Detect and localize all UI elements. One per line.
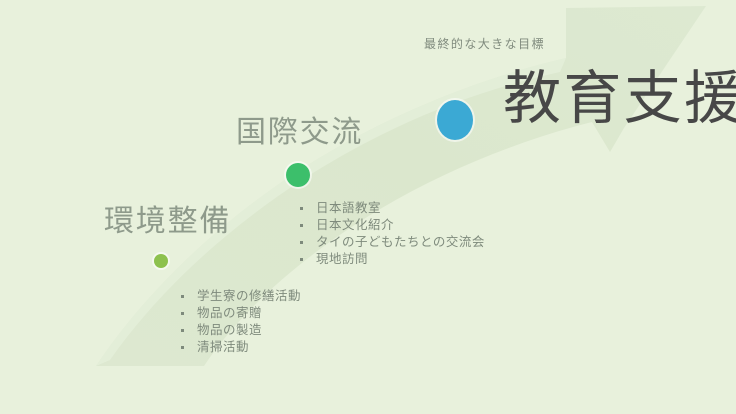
list-item-label: 物品の製造	[197, 323, 262, 337]
goal-title: 教育支援	[503, 70, 736, 128]
goal-caption: 最終的な大きな目標	[424, 38, 545, 50]
bullet-dot-icon	[181, 295, 184, 298]
list-item: 清掃活動	[177, 339, 301, 356]
list-item: 物品の寄贈	[177, 305, 301, 322]
list-item-label: 学生寮の修繕活動	[197, 289, 301, 303]
stage-label-international-exchange: 国際交流	[236, 118, 363, 148]
list-item: タイの子どもたちとの交流会	[296, 234, 485, 251]
stage-marker-dot-international-exchange	[286, 163, 310, 187]
list-item-label: 日本文化紹介	[316, 218, 394, 232]
stage-marker-dot-environment-improvement	[154, 254, 168, 268]
list-item-label: 日本語教室	[316, 201, 381, 215]
goal-marker-dot	[437, 100, 473, 140]
bullet-dot-icon	[300, 207, 303, 210]
slide-canvas: 最終的な大きな目標 教育支援 国際交流 日本語教室 日本文化紹介 タイの子どもた…	[0, 0, 736, 414]
list-item: 現地訪問	[296, 251, 485, 268]
list-item: 学生寮の修繕活動	[177, 288, 301, 305]
bullet-dot-icon	[181, 346, 184, 349]
list-item: 日本語教室	[296, 200, 485, 217]
stage-bullets-international-exchange: 日本語教室 日本文化紹介 タイの子どもたちとの交流会 現地訪問	[296, 200, 485, 268]
bullet-dot-icon	[181, 329, 184, 332]
list-item-label: 清掃活動	[197, 340, 249, 354]
list-item-label: 現地訪問	[316, 252, 368, 266]
stage-bullets-environment-improvement: 学生寮の修繕活動 物品の寄贈 物品の製造 清掃活動	[177, 288, 301, 356]
list-item: 日本文化紹介	[296, 217, 485, 234]
bullet-dot-icon	[181, 312, 184, 315]
list-item-label: タイの子どもたちとの交流会	[316, 235, 485, 249]
bullet-dot-icon	[300, 258, 303, 261]
bullet-dot-icon	[300, 224, 303, 227]
list-item: 物品の製造	[177, 322, 301, 339]
bullet-dot-icon	[300, 241, 303, 244]
list-item-label: 物品の寄贈	[197, 306, 262, 320]
stage-label-environment-improvement: 環境整備	[104, 207, 231, 237]
